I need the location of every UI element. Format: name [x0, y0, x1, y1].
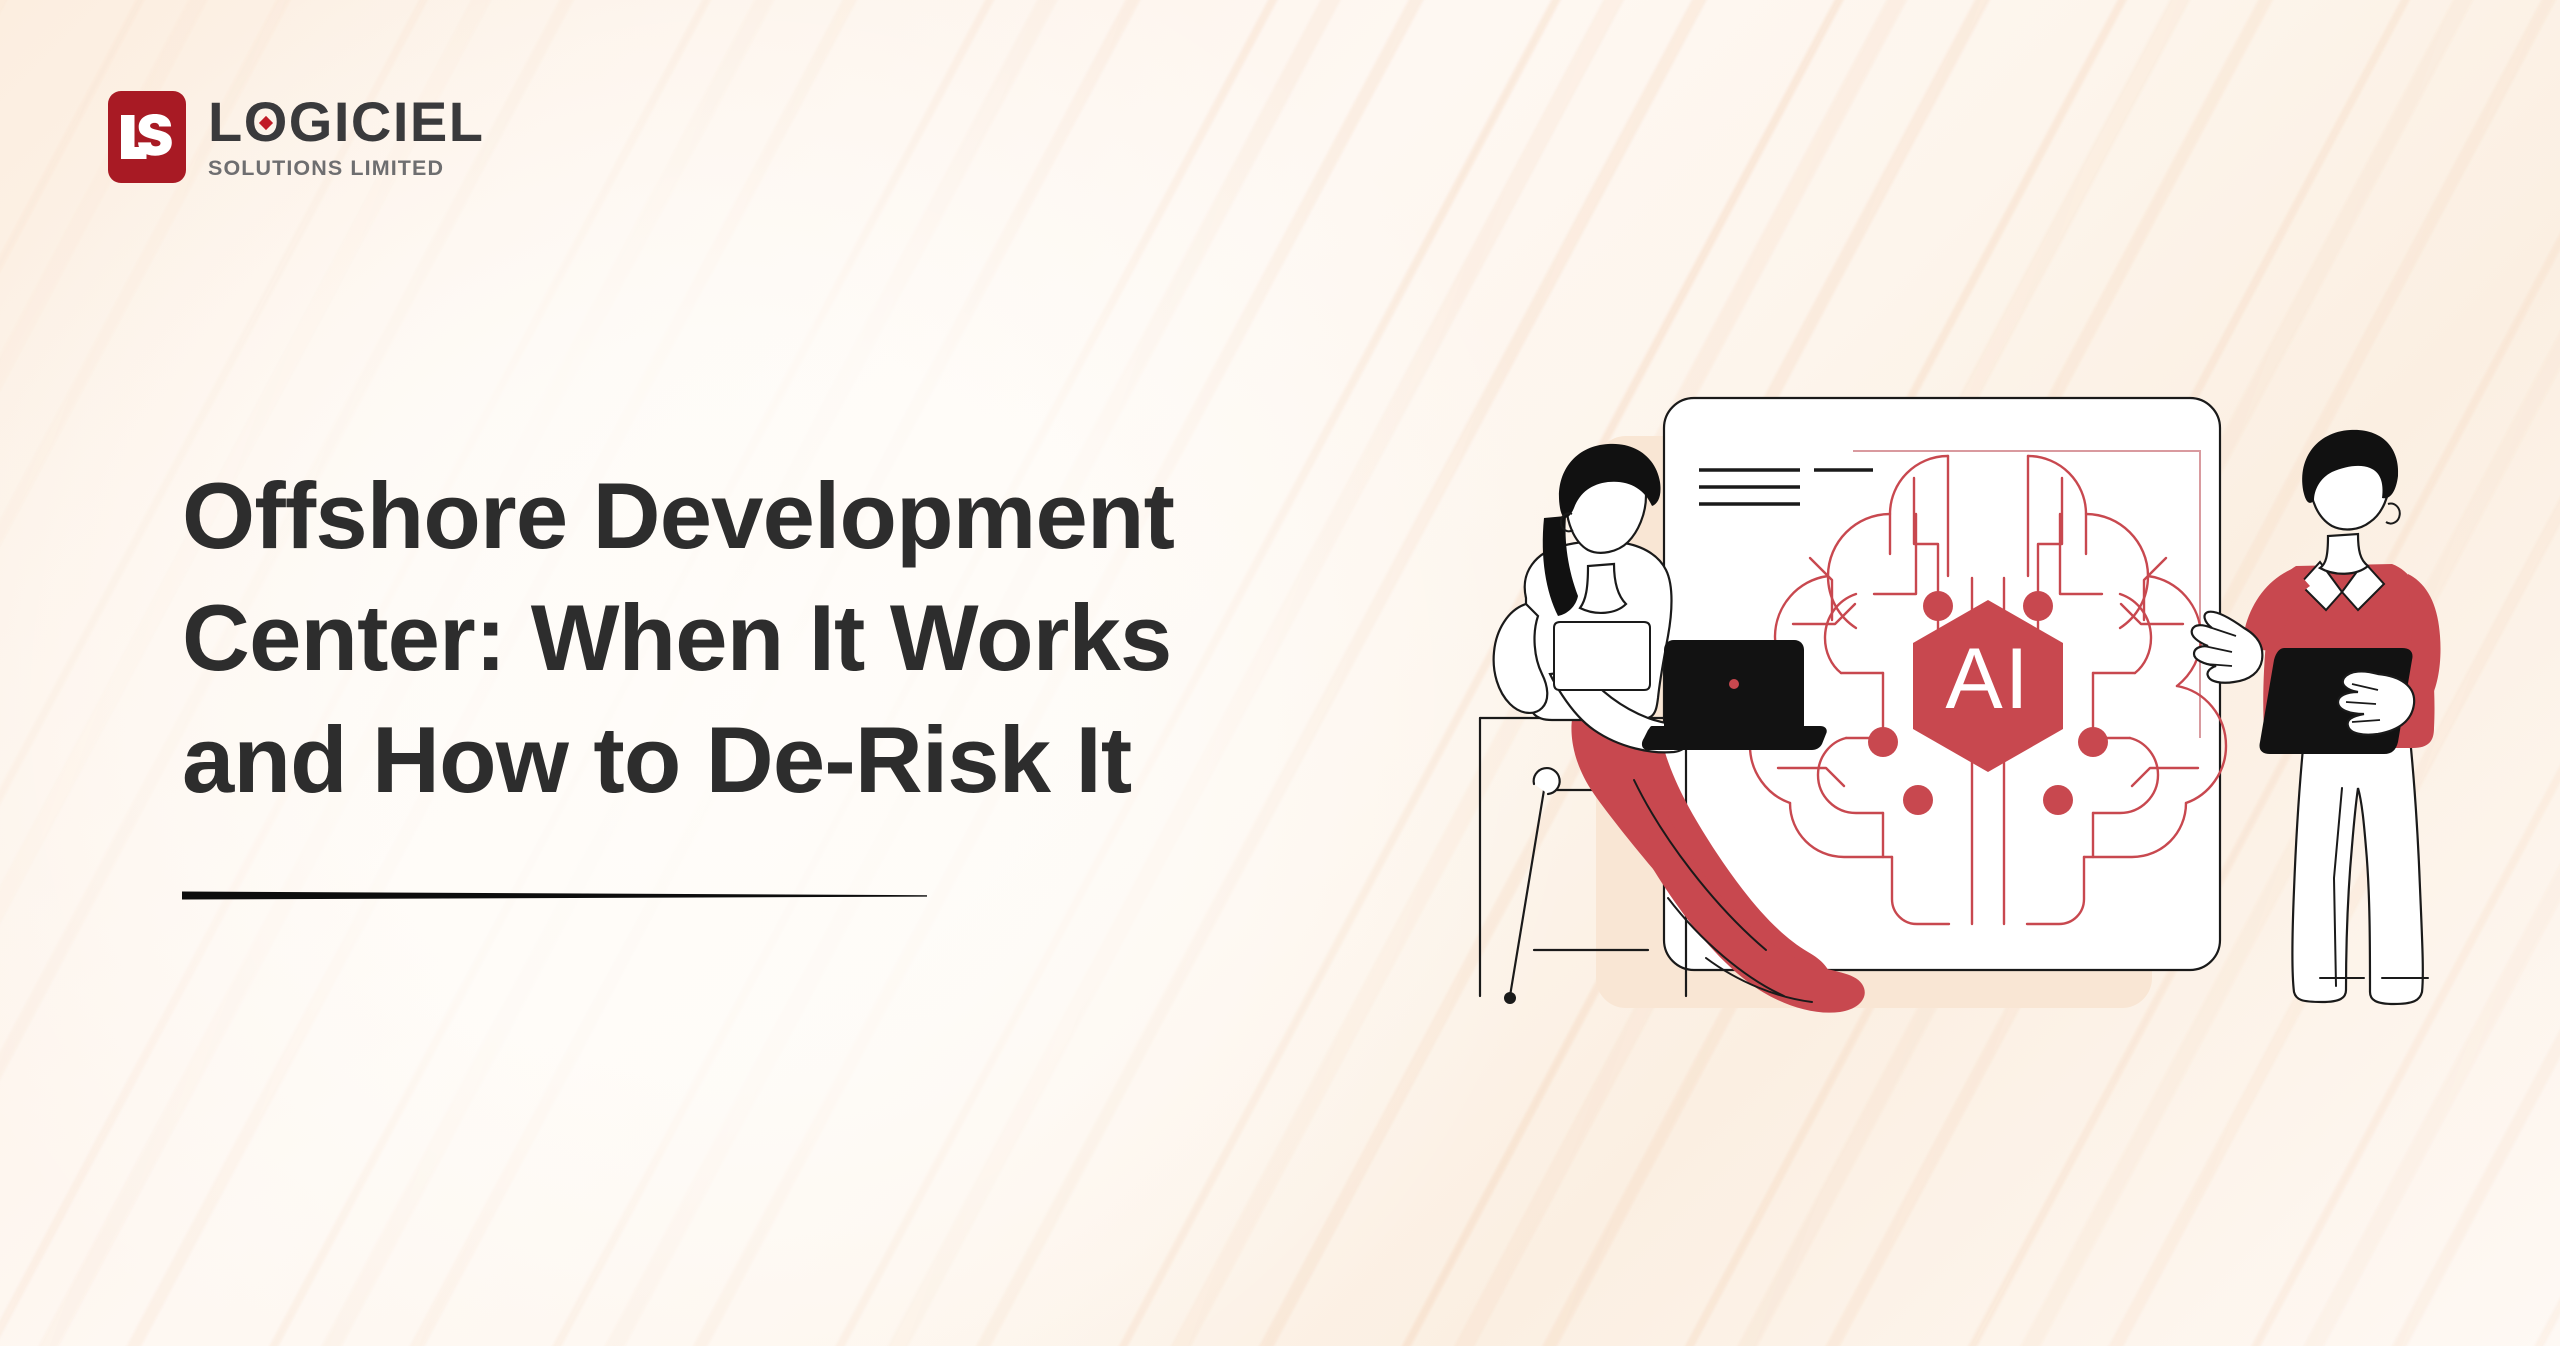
page-title: Offshore Development Center: When It Wor…	[182, 455, 1442, 822]
brand-logo[interactable]: L O GICIEL SOLUTIONS LIMITED	[108, 91, 484, 183]
headline-divider	[182, 888, 927, 898]
circuit-node	[1868, 727, 1898, 757]
logo-o-letter: O	[244, 94, 289, 150]
logo-name-suffix: GICIEL	[289, 94, 485, 150]
logo-tagline: SOLUTIONS LIMITED	[208, 156, 484, 181]
laptop	[1642, 640, 1827, 750]
man-ear	[2386, 504, 2400, 524]
headline-block: Offshore Development Center: When It Wor…	[182, 455, 1442, 822]
circuit-node	[2078, 727, 2108, 757]
logo-mark-ls-icon	[108, 91, 186, 183]
circuit-node	[2043, 785, 2073, 815]
circuit-node	[1923, 591, 1953, 621]
ai-badge-label: AI	[1945, 631, 2030, 727]
laptop-logo-dot-icon	[1729, 679, 1739, 689]
woman-bodice	[1554, 622, 1650, 690]
man-neck	[2320, 534, 2368, 574]
circuit-node	[1903, 785, 1933, 815]
person-man-with-tablet	[2192, 430, 2441, 1004]
logo-company-name: L O GICIEL	[208, 94, 484, 150]
laptop-base	[1642, 726, 1827, 750]
logo-wordmark: L O GICIEL SOLUTIONS LIMITED	[208, 94, 484, 181]
hero-illustration: AI	[1448, 318, 2528, 1018]
logo-name-prefix: L	[208, 94, 244, 150]
banner-canvas: L O GICIEL SOLUTIONS LIMITED Offshore De…	[0, 0, 2560, 1346]
circuit-node	[2023, 591, 2053, 621]
man-trousers	[2293, 738, 2423, 1004]
